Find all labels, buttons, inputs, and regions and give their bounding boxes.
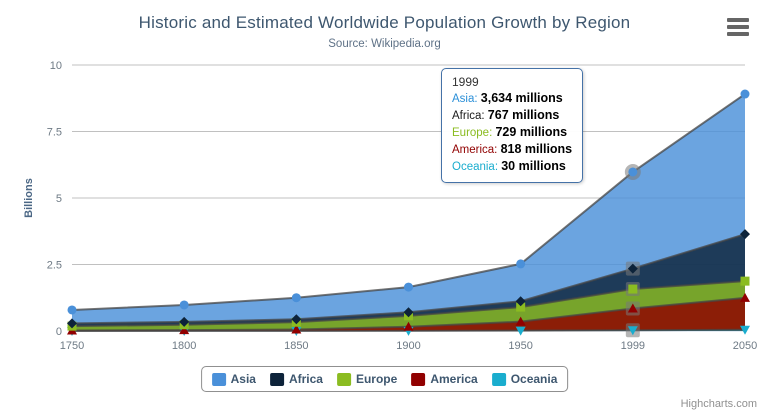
tooltip-series-value: 818 millions bbox=[501, 142, 573, 156]
marker-asia-1750[interactable] bbox=[68, 305, 77, 314]
x-axis-tick-label-1999: 1999 bbox=[621, 340, 645, 352]
tooltip-series-name: Europe: bbox=[452, 127, 495, 139]
tooltip-series-value: 3,634 millions bbox=[481, 91, 563, 105]
x-axis-tick-label-1850: 1850 bbox=[284, 340, 308, 352]
tooltip-series-name: America: bbox=[452, 144, 501, 156]
marker-asia-1999[interactable] bbox=[628, 167, 637, 176]
x-axis-tick-label-1900: 1900 bbox=[396, 340, 420, 352]
y-axis-tick-label: 7.5 bbox=[47, 127, 62, 139]
chart-legend[interactable]: AsiaAfricaEuropeAmericaOceania bbox=[201, 366, 569, 392]
x-axis-tick-label-1750: 1750 bbox=[60, 340, 84, 352]
legend-item-oceania[interactable]: Oceania bbox=[492, 372, 558, 386]
tooltip-row-asia: Asia: 3,634 millions bbox=[452, 90, 572, 107]
tooltip-series-name: Africa: bbox=[452, 110, 488, 122]
marker-europe-1999[interactable] bbox=[628, 285, 637, 294]
tooltip-series-value: 767 millions bbox=[488, 108, 560, 122]
y-axis-tick-label: 5 bbox=[56, 193, 62, 205]
legend-swatch-europe bbox=[337, 373, 351, 386]
tooltip-row-africa: Africa: 767 millions bbox=[452, 107, 572, 124]
tooltip-series-value: 729 millions bbox=[495, 125, 567, 139]
y-axis-tick-label: 2.5 bbox=[47, 260, 62, 272]
y-axis-tick-label: 0 bbox=[56, 326, 62, 338]
y-axis-title: Billions bbox=[23, 178, 35, 218]
tooltip-series-value: 30 millions bbox=[501, 159, 566, 173]
legend-label: Africa bbox=[289, 372, 323, 386]
tooltip-header: 1999 bbox=[452, 75, 572, 90]
legend-label: Europe bbox=[356, 372, 397, 386]
legend-label: Oceania bbox=[511, 372, 558, 386]
y-axis-tick-label: 10 bbox=[50, 60, 62, 72]
tooltip-series-name: Asia: bbox=[452, 93, 481, 105]
marker-asia-1900[interactable] bbox=[404, 283, 413, 292]
legend-swatch-africa bbox=[270, 373, 284, 386]
legend-item-europe[interactable]: Europe bbox=[337, 372, 397, 386]
marker-asia-1950[interactable] bbox=[516, 259, 525, 268]
tooltip-row-oceania: Oceania: 30 millions bbox=[452, 158, 572, 175]
plot-area: 02.557.510Billions1750180018501900195019… bbox=[0, 0, 769, 416]
legend-item-africa[interactable]: Africa bbox=[270, 372, 323, 386]
tooltip-rows: Asia: 3,634 millionsAfrica: 767 millions… bbox=[452, 90, 572, 175]
highcharts-watermark: Highcharts.com bbox=[681, 398, 757, 410]
x-axis-tick-label-1800: 1800 bbox=[172, 340, 196, 352]
marker-asia-1850[interactable] bbox=[292, 293, 301, 302]
marker-europe-2050[interactable] bbox=[741, 277, 750, 286]
tooltip-row-america: America: 818 millions bbox=[452, 141, 572, 158]
marker-asia-2050[interactable] bbox=[741, 90, 750, 99]
x-axis-tick-label-1950: 1950 bbox=[508, 340, 532, 352]
legend-label: Asia bbox=[231, 372, 256, 386]
legend-item-america[interactable]: America bbox=[411, 372, 477, 386]
legend-item-asia[interactable]: Asia bbox=[212, 372, 256, 386]
tooltip-row-europe: Europe: 729 millions bbox=[452, 124, 572, 141]
legend-swatch-asia bbox=[212, 373, 226, 386]
chart-tooltip: 1999 Asia: 3,634 millionsAfrica: 767 mil… bbox=[441, 68, 583, 183]
legend-swatch-oceania bbox=[492, 373, 506, 386]
legend-swatch-america bbox=[411, 373, 425, 386]
chart-container: Historic and Estimated Worldwide Populat… bbox=[0, 0, 769, 416]
tooltip-series-name: Oceania: bbox=[452, 161, 501, 173]
x-axis-tick-label-2050: 2050 bbox=[733, 340, 757, 352]
marker-asia-1800[interactable] bbox=[180, 300, 189, 309]
legend-label: America bbox=[430, 372, 477, 386]
